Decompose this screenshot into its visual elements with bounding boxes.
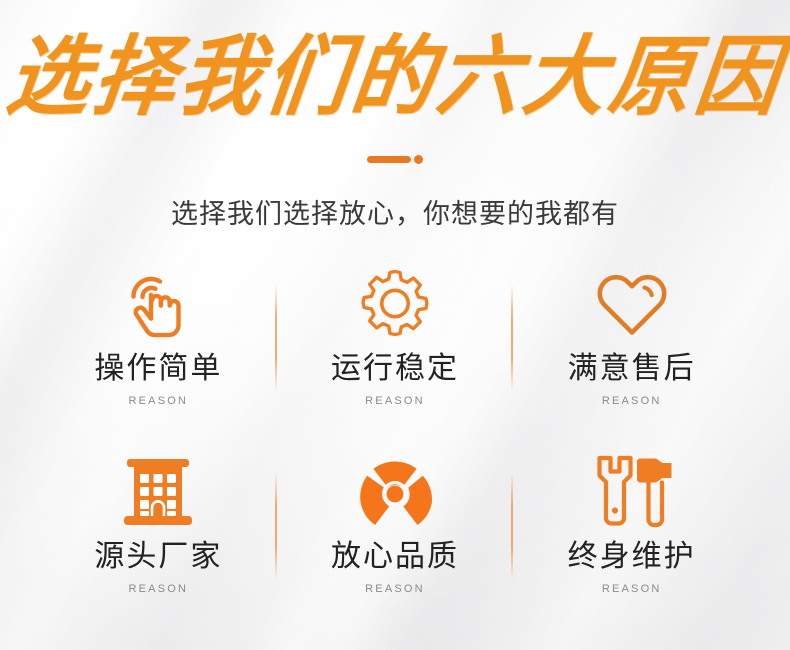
page-subtitle: 选择我们选择放心，你想要的我都有: [0, 198, 790, 230]
title-divider: [0, 152, 790, 166]
feature-label: 源头厂家: [94, 542, 222, 572]
feature-grid: 操作简单 REASON 运行稳定 REASON: [40, 258, 750, 634]
feature-cell-quality: 放心品质 REASON: [277, 446, 514, 634]
gear-icon: [356, 264, 434, 344]
feature-label: 满意售后: [568, 354, 696, 384]
page-title: 选择我们的六大原因: [0, 36, 790, 118]
feature-label: 操作简单: [94, 354, 222, 384]
feature-cell-stable-operation: 运行稳定 REASON: [277, 258, 514, 446]
radiation-icon: [356, 452, 434, 532]
divider-dot-icon: [414, 155, 423, 164]
feature-sublabel: REASON: [129, 396, 189, 407]
feature-sublabel: REASON: [365, 396, 425, 407]
feature-label: 放心品质: [331, 542, 459, 572]
feature-label: 运行稳定: [331, 354, 459, 384]
feature-sublabel: REASON: [365, 584, 425, 595]
feature-cell-after-sales: 满意售后 REASON: [513, 258, 750, 446]
tap-hand-icon: [119, 264, 197, 344]
feature-cell-source-factory: 源头厂家 REASON: [40, 446, 277, 634]
promo-banner: 选择我们的六大原因 选择我们选择放心，你想要的我都有: [0, 0, 790, 650]
feature-sublabel: REASON: [602, 396, 662, 407]
divider-bar: [367, 156, 411, 163]
feature-label: 终身维护: [568, 542, 696, 572]
feature-cell-operation-simple: 操作简单 REASON: [40, 258, 277, 446]
factory-building-icon: [120, 452, 196, 532]
feature-sublabel: REASON: [129, 584, 189, 595]
heart-icon: [592, 264, 672, 344]
feature-cell-lifetime-maintenance: 终身维护 REASON: [513, 446, 750, 634]
page-title-text: 选择我们的六大原因: [3, 34, 788, 121]
wrench-hammer-icon: [586, 452, 678, 532]
feature-sublabel: REASON: [602, 584, 662, 595]
